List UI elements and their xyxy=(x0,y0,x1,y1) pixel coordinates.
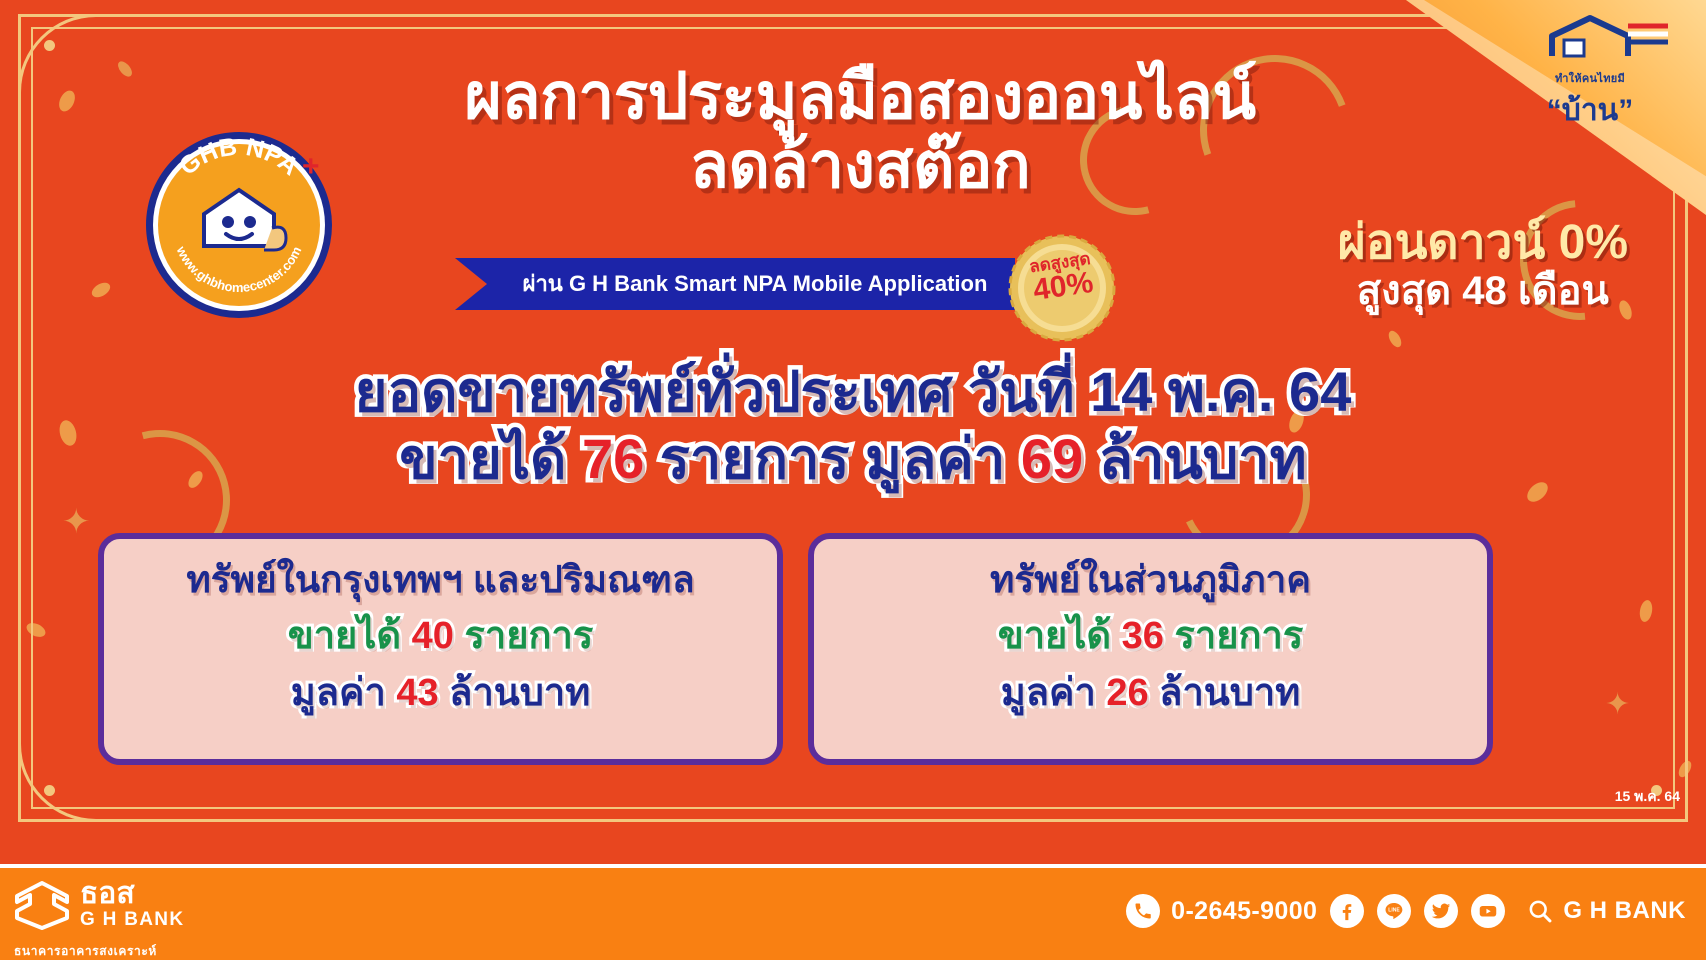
svg-text:LINE: LINE xyxy=(1389,908,1401,914)
down-payment-promo: ผ่อนดาวน์ 0% สูงสุด 48 เดือน xyxy=(1338,218,1628,314)
value-prefix: มูลค่า xyxy=(1001,672,1107,714)
national-mid-text: รายการ มูลค่า xyxy=(644,427,1021,490)
discount-seal: ลดสูงสุด 40% xyxy=(1000,232,1124,344)
frame-corner-bottom-left xyxy=(18,744,96,822)
national-sold-prefix: ขายได้ xyxy=(399,427,582,490)
ghb-npa-stamp-logo: GHB NPA www.ghbhomecenter.com + xyxy=(142,128,336,322)
line-icon[interactable]: LINE xyxy=(1377,894,1411,928)
sold-prefix: ขายได้ xyxy=(288,615,412,657)
date-stamp: 15 พ.ค. 64 xyxy=(1615,786,1680,808)
facebook-glyph xyxy=(1336,900,1358,922)
bank-logo-thai: ธอส xyxy=(80,880,184,909)
stat-box-title: ทรัพย์ในส่วนภูมิภาค xyxy=(814,553,1487,607)
sold-prefix: ขายได้ xyxy=(998,615,1122,657)
footer-bank-logo: ธอส G H BANK ธนาคารอาคารสงเคราะห์ xyxy=(14,880,184,930)
twitter-icon[interactable] xyxy=(1424,894,1458,928)
confetti-dot xyxy=(115,59,134,79)
sparkle-icon: ✦ xyxy=(1605,690,1630,720)
footer-bar: ธอส G H BANK ธนาคารอาคารสงเคราะห์ 0-2645… xyxy=(0,864,1706,960)
national-sales-figures-line: ขายได้ 76 รายการ มูลค่า 69 ล้านบาท xyxy=(0,425,1706,492)
sold-suffix: รายการ xyxy=(1164,615,1303,657)
bank-house-icon xyxy=(14,880,70,930)
bank-logo-subtitle: ธนาคารอาคารสงเคราะห์ xyxy=(14,942,157,960)
ghb-house-logo: ทำให้คนไทยมี “บ้าน” xyxy=(1500,14,1680,94)
value-suffix: ล้านบาท xyxy=(439,672,591,714)
facebook-icon[interactable] xyxy=(1330,894,1364,928)
footer-contact-row: 0-2645-9000 LINE xyxy=(1126,894,1686,928)
headline-line-2: ลดล้างสต๊อก xyxy=(330,131,1390,200)
stat-box-sold-line: ขายได้ 36 รายการ xyxy=(814,607,1487,666)
frame-corner-dot xyxy=(44,40,55,51)
headline-line-1: ผลการประมูลมือสองออนไลน์ xyxy=(330,62,1390,131)
national-sold-count: 76 xyxy=(582,427,644,490)
sold-count: 40 xyxy=(412,615,454,657)
national-sales-summary: ยอดขายทรัพย์ทั่วประเทศ วันที่ 14 พ.ค. 64… xyxy=(0,358,1706,492)
youtube-icon[interactable] xyxy=(1471,894,1505,928)
svg-text:+: + xyxy=(302,150,320,183)
stat-box-regional: ทรัพย์ในส่วนภูมิภาค ขายได้ 36 รายการ มูล… xyxy=(808,533,1493,765)
phone-icon[interactable] xyxy=(1126,894,1160,928)
phone-handset-glyph xyxy=(1133,901,1153,921)
youtube-play-glyph xyxy=(1477,900,1499,922)
search-icon[interactable] xyxy=(1526,897,1554,925)
frame-corner-dot xyxy=(44,785,55,796)
stat-box-sold-line: ขายได้ 40 รายการ xyxy=(104,607,777,666)
promo-line-2: สูงสุด 48 เดือน xyxy=(1338,268,1628,314)
phone-contact[interactable]: 0-2645-9000 xyxy=(1126,894,1317,928)
confetti-dot xyxy=(89,280,112,300)
promo-poster: ✦ ✦ ✦ ✦ ทำให้คนไทยมี “บ้าน” GHB NPA xyxy=(0,0,1706,960)
national-sales-date-line: ยอดขายทรัพย์ทั่วประเทศ วันที่ 14 พ.ค. 64 xyxy=(0,358,1706,425)
frame-corner-top-left xyxy=(18,14,96,92)
app-banner-text: ผ่าน G H Bank Smart NPA Mobile Applicati… xyxy=(505,258,1005,310)
stat-box-bangkok: ทรัพย์ในกรุงเทพฯ และปริมณฑล ขายได้ 40 รา… xyxy=(98,533,783,765)
sold-count: 36 xyxy=(1122,615,1164,657)
promo-line-1: ผ่อนดาวน์ 0% xyxy=(1338,218,1628,268)
stat-box-value-line: มูลค่า 43 ล้านบาท xyxy=(104,666,777,721)
house-logo-word: “บ้าน” xyxy=(1500,87,1680,134)
headline: ผลการประมูลมือสองออนไลน์ ลดล้างสต๊อก xyxy=(330,62,1390,200)
confetti-dot xyxy=(1638,599,1654,623)
line-glyph: LINE xyxy=(1382,899,1406,923)
confetti-dot xyxy=(24,620,47,639)
bank-logo-english: G H BANK xyxy=(80,909,184,931)
stat-box-title: ทรัพย์ในกรุงเทพฯ และปริมณฑล xyxy=(104,553,777,607)
national-value-suffix: ล้านบาท xyxy=(1083,427,1307,490)
house-roof-icon xyxy=(1500,14,1680,64)
value-amount: 26 xyxy=(1106,672,1148,714)
search-bank[interactable]: G H BANK xyxy=(1526,897,1686,925)
app-banner: ผ่าน G H Bank Smart NPA Mobile Applicati… xyxy=(455,258,1015,310)
sparkle-icon: ✦ xyxy=(62,505,91,539)
value-suffix: ล้านบาท xyxy=(1149,672,1301,714)
sold-suffix: รายการ xyxy=(454,615,593,657)
search-keyword[interactable]: G H BANK xyxy=(1563,897,1686,925)
value-amount: 43 xyxy=(396,672,438,714)
stat-box-value-line: มูลค่า 26 ล้านบาท xyxy=(814,666,1487,721)
value-prefix: มูลค่า xyxy=(291,672,397,714)
house-logo-tagline: ทำให้คนไทยมี xyxy=(1500,69,1680,87)
phone-number[interactable]: 0-2645-9000 xyxy=(1171,897,1317,926)
twitter-bird-glyph xyxy=(1430,900,1452,922)
confetti-dot xyxy=(1676,759,1694,780)
confetti-dot xyxy=(1386,329,1404,350)
national-value-amount: 69 xyxy=(1021,427,1083,490)
